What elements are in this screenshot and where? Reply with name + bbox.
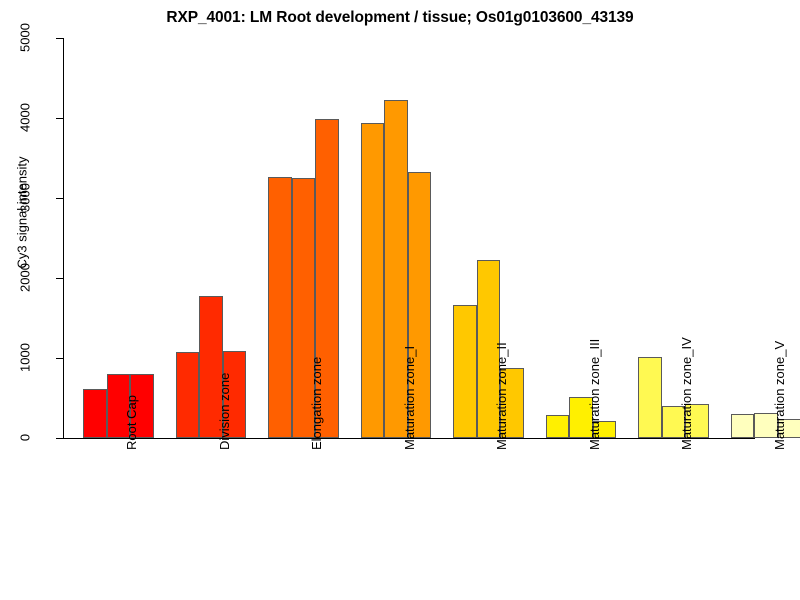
bar: [176, 352, 200, 438]
y-axis-tick-label: 3000: [18, 175, 33, 221]
x-axis-category-label: Elongation zone: [309, 357, 324, 450]
y-axis-tick: [56, 118, 63, 119]
y-axis-tick-label-wrap: 5000: [2, 30, 48, 46]
x-axis-category-label: Maturation zone_I: [402, 346, 417, 450]
x-axis-category-label: Maturation zone_V: [772, 341, 787, 450]
x-axis-category-label: Maturation zone_II: [494, 342, 509, 450]
y-axis-tick-label: 0: [18, 415, 33, 461]
x-axis-category-label: Maturation zone_IV: [679, 337, 694, 450]
bar: [546, 415, 570, 438]
y-axis-tick: [56, 38, 63, 39]
y-axis-tick-label: 4000: [18, 95, 33, 141]
y-axis-tick: [56, 278, 63, 279]
x-axis-category-label: Root Cap: [124, 395, 139, 450]
y-axis-tick-label: 1000: [18, 335, 33, 381]
bar: [638, 357, 662, 438]
y-axis-tick-label: 2000: [18, 255, 33, 301]
y-axis-tick-label-wrap: 1000: [2, 350, 48, 366]
y-axis-tick-label-wrap: 2000: [2, 270, 48, 286]
y-axis-tick: [56, 358, 63, 359]
bar: [268, 177, 292, 438]
bar: [361, 123, 385, 438]
chart-title: RXP_4001: LM Root development / tissue; …: [0, 9, 800, 27]
chart-container: RXP_4001: LM Root development / tissue; …: [0, 0, 800, 600]
y-axis-tick-label-wrap: 3000: [2, 190, 48, 206]
bar: [731, 414, 755, 438]
bar: [453, 305, 477, 438]
y-axis-tick-label-wrap: 4000: [2, 110, 48, 126]
y-axis-tick-label: 5000: [18, 15, 33, 61]
y-axis-tick-label-wrap: 0: [2, 430, 48, 446]
x-axis-category-label: Division zone: [217, 373, 232, 450]
y-axis-tick: [56, 198, 63, 199]
y-axis-tick: [56, 438, 63, 439]
bar: [83, 389, 107, 438]
x-axis-category-label: Maturation zone_III: [587, 339, 602, 450]
